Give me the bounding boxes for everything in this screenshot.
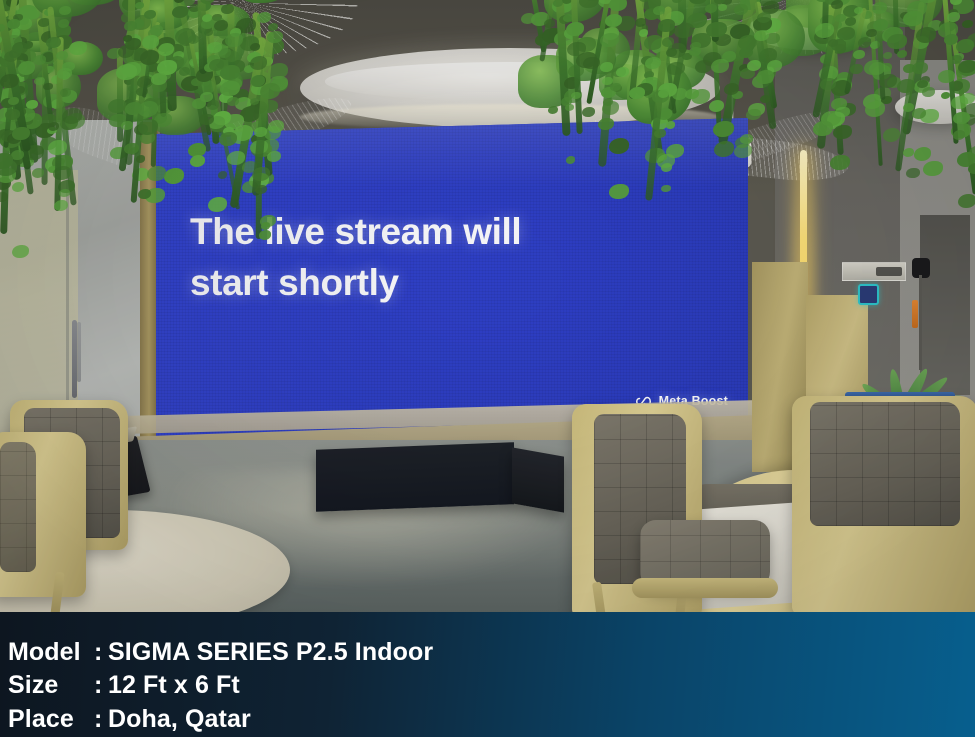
- venue-photo: The live stream will start shortly Meta …: [0, 0, 975, 612]
- caption-value: SIGMA SERIES P2.5 Indoor: [108, 636, 433, 669]
- caption-key: Model: [8, 636, 94, 669]
- caption-value: Doha, Qatar: [108, 703, 251, 736]
- caption-value: 12 Ft x 6 Ft: [108, 669, 240, 702]
- caption-separator: :: [94, 669, 108, 702]
- caption-row-size: Size : 12 Ft x 6 Ft: [8, 669, 975, 702]
- caption-separator: :: [94, 703, 108, 736]
- caption-bar: Model : SIGMA SERIES P2.5 Indoor Size : …: [0, 612, 975, 737]
- caption-key: Size: [8, 669, 94, 702]
- product-photo-card: The live stream will start shortly Meta …: [0, 0, 975, 737]
- caption-key: Place: [8, 703, 94, 736]
- caption-row-place: Place : Doha, Qatar: [8, 703, 975, 736]
- caption-row-model: Model : SIGMA SERIES P2.5 Indoor: [8, 636, 975, 669]
- photo-vignette: [0, 0, 975, 612]
- caption-separator: :: [94, 636, 108, 669]
